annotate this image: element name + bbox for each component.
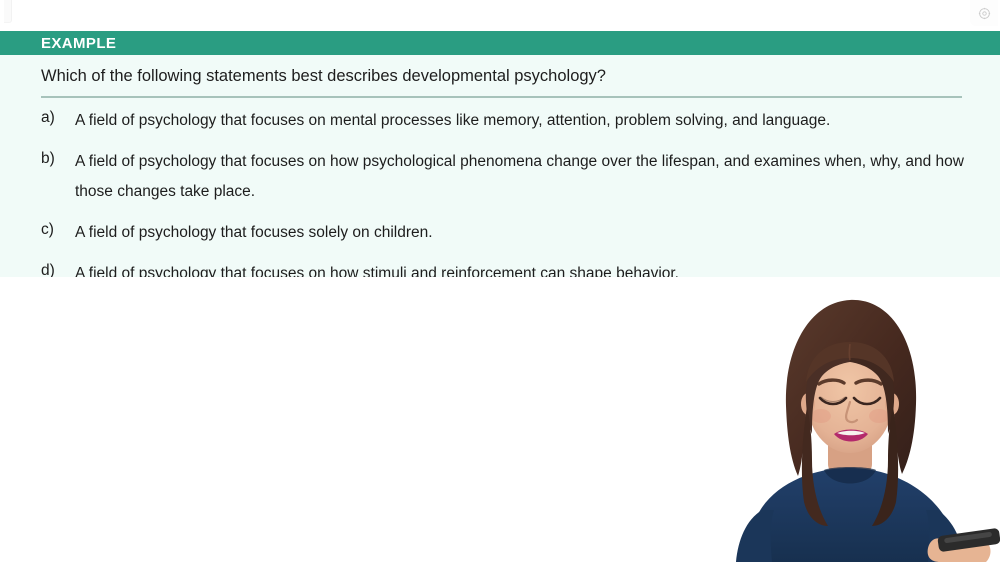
choice-letter-b: b)	[41, 147, 75, 170]
question-prompt: Which of the following statements best d…	[0, 55, 1000, 87]
slide-stage: EXAMPLE Which of the following statement…	[0, 0, 1000, 562]
example-panel: EXAMPLE Which of the following statement…	[0, 31, 1000, 277]
choice-text-c: A field of psychology that focuses solel…	[75, 218, 966, 248]
choice-text-b: A field of psychology that focuses on ho…	[75, 147, 966, 207]
choice-letter-c: c)	[41, 218, 75, 241]
left-edge-marker	[4, 0, 12, 23]
presenter-illustration	[700, 278, 1000, 562]
choice-option-b[interactable]: b) A field of psychology that focuses on…	[0, 147, 1000, 207]
choice-option-c[interactable]: c) A field of psychology that focuses so…	[0, 218, 1000, 248]
presenter-video-overlay: instructor-video-overlay	[700, 278, 1000, 562]
example-banner-label: EXAMPLE	[41, 36, 116, 51]
choice-option-a[interactable]: a) A field of psychology that focuses on…	[0, 106, 1000, 136]
corner-control-chip[interactable]	[970, 0, 998, 26]
choice-text-a: A field of psychology that focuses on me…	[75, 106, 966, 136]
example-banner: EXAMPLE	[0, 31, 1000, 55]
choice-letter-a: a)	[41, 106, 75, 129]
top-strip	[0, 0, 1000, 31]
question-area: Which of the following statements best d…	[0, 55, 1000, 300]
choice-list: a) A field of psychology that focuses on…	[0, 98, 1000, 289]
question-divider	[41, 96, 962, 98]
gear-icon	[978, 7, 991, 20]
